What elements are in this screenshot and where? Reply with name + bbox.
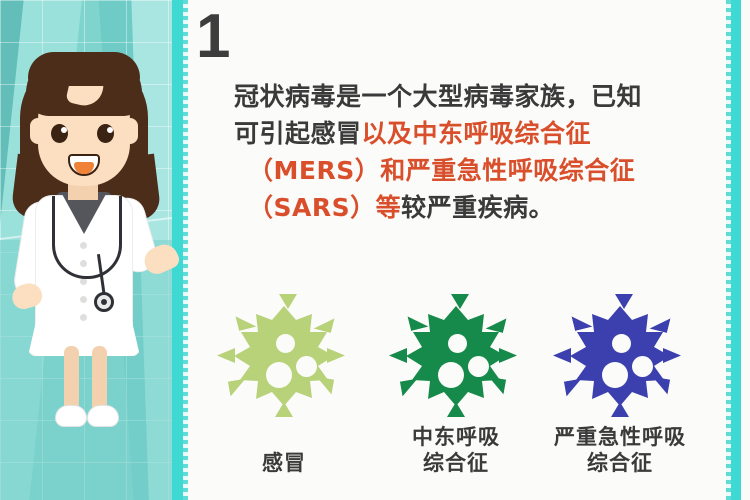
- virus-hole: [438, 362, 464, 388]
- perforation-left: [183, 0, 188, 500]
- coat-button: [80, 314, 87, 321]
- virus-body: [234, 306, 334, 406]
- body-paragraph: 冠状病毒是一个大型病毒家族，已知 可引起感冒以及中东呼吸综合征 （MERS）和严…: [234, 78, 712, 226]
- paragraph-line-1: 冠状病毒是一个大型病毒家族，已知: [234, 78, 712, 115]
- virus-label: 感冒: [200, 450, 368, 476]
- text-segment: 较严重疾病。: [401, 193, 554, 222]
- text-segment: 冠状病毒是一个大型病毒家族，已知: [234, 82, 642, 111]
- eye-glint-right: [107, 127, 113, 133]
- virus-label-line: 感冒: [200, 450, 368, 476]
- eye-glint-left: [61, 127, 67, 133]
- shoe-left: [56, 406, 86, 426]
- text-segment: 可引起感冒: [234, 119, 362, 148]
- virus-spike: [400, 379, 420, 397]
- virus-body: [570, 306, 670, 406]
- virus-spike: [615, 294, 633, 309]
- virus-hole: [276, 334, 295, 353]
- virus-label-line: 严重急性呼吸: [536, 424, 704, 450]
- virus-item-common-cold: 感冒: [200, 296, 368, 476]
- shoe-right: [88, 406, 118, 426]
- virus-legend-row: 感冒 中东呼吸 综合征: [186, 296, 726, 500]
- virus-spike: [217, 348, 235, 363]
- virus-spike: [553, 348, 571, 363]
- virus-hole: [632, 356, 653, 377]
- divider-strip-right: [731, 0, 741, 500]
- virus-hole: [448, 334, 467, 353]
- step-number: 1: [196, 6, 229, 68]
- virus-icon: [559, 296, 681, 418]
- virus-hole: [468, 356, 489, 377]
- stethoscope-icon: [52, 196, 122, 279]
- paragraph-line-4: （SARS）等较严重疾病。: [234, 189, 712, 226]
- text-segment-highlight: （SARS）等: [248, 193, 401, 222]
- virus-spike: [485, 314, 506, 333]
- virus-spike: [228, 379, 248, 397]
- lab-coat-skirt: [28, 298, 140, 356]
- virus-spike: [279, 294, 297, 309]
- hair-top: [28, 52, 140, 86]
- virus-spike: [649, 314, 670, 333]
- virus-spike: [313, 314, 334, 333]
- illustration-panel: [0, 0, 186, 500]
- virus-label-line: 综合征: [372, 450, 540, 476]
- virus-label: 中东呼吸 综合征: [372, 424, 540, 476]
- doctor-illustration: [4, 46, 184, 466]
- virus-label-line: 综合征: [536, 450, 704, 476]
- stethoscope-center: [101, 299, 107, 305]
- virus-spike: [451, 294, 469, 309]
- virus-item-mers: 中东呼吸 综合征: [372, 296, 540, 476]
- virus-spike: [235, 312, 256, 331]
- virus-hole: [296, 356, 317, 377]
- eyebrow-right: [94, 110, 116, 122]
- virus-hole: [612, 334, 631, 353]
- virus-icon: [395, 296, 517, 418]
- text-segment-highlight: 以及中东呼吸综合征: [362, 119, 592, 148]
- virus-label-line: 中东呼吸: [372, 424, 540, 450]
- paragraph-line-2: 可引起感冒以及中东呼吸综合征: [234, 115, 712, 152]
- virus-label: 严重急性呼吸 综合征: [536, 424, 704, 476]
- coat-button: [80, 278, 87, 285]
- coat-button: [80, 296, 87, 303]
- virus-spike: [389, 348, 407, 363]
- perforation-right: [726, 0, 731, 500]
- virus-item-sars: 严重急性呼吸 综合征: [536, 296, 704, 476]
- virus-icon: [223, 296, 345, 418]
- paragraph-line-3: （MERS）和严重急性呼吸综合征: [234, 152, 712, 189]
- eyebrow-left: [48, 110, 70, 122]
- poster-canvas: 1 冠状病毒是一个大型病毒家族，已知 可引起感冒以及中东呼吸综合征 （MERS）…: [0, 0, 750, 500]
- virus-hole: [266, 362, 292, 388]
- virus-spike: [564, 379, 584, 397]
- virus-spike: [571, 312, 592, 331]
- virus-body: [406, 306, 506, 406]
- text-segment-highlight: （MERS）和严重急性呼吸综合征: [248, 156, 635, 185]
- virus-spike: [407, 312, 428, 331]
- virus-hole: [602, 362, 628, 388]
